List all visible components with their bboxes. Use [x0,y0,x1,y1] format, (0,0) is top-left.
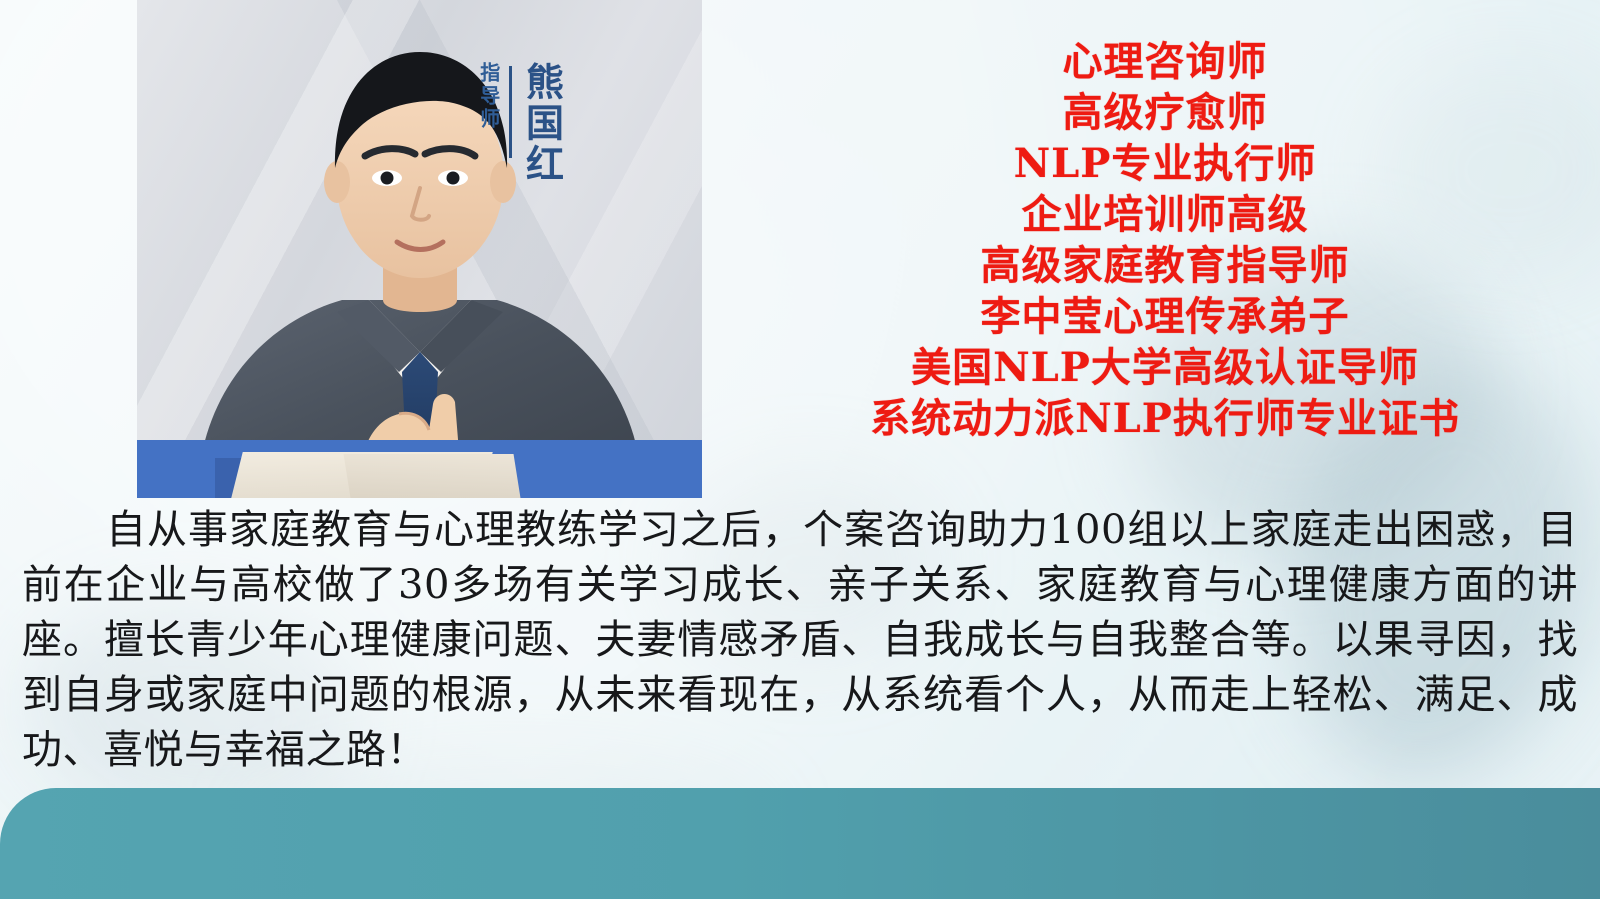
credential-line: 高级疗愈师 [815,87,1515,138]
desk-band [137,440,702,498]
paper-sheet-second [344,454,521,498]
caption-person-name: 熊国红 [522,62,561,185]
credential-line: 高级家庭教育指导师 [815,240,1515,291]
biography-paragraph: 自从事家庭教育与心理教练学习之后，个案咨询助力100组以上家庭走出困惑，目前在企… [22,503,1578,778]
credential-line: 李中莹心理传承弟子 [815,291,1515,342]
caption-divider [509,66,512,158]
bottom-accent-band [0,788,1600,899]
caption-role-label: 指导师 [478,62,499,131]
credential-line: 系统动力派NLP执行师专业证书 [815,393,1515,444]
credential-line: NLP专业执行师 [815,138,1515,189]
credential-line: 心理咨询师 [815,36,1515,87]
credentials-list: 心理咨询师 高级疗愈师 NLP专业执行师 企业培训师高级 高级家庭教育指导师 李… [815,36,1515,444]
instructor-photo: 指导师 熊国红 [137,0,702,498]
credential-line: 企业培训师高级 [815,189,1515,240]
biography-section: 自从事家庭教育与心理教练学习之后，个案咨询助力100组以上家庭走出困惑，目前在企… [22,503,1578,778]
photo-caption: 指导师 熊国红 [478,62,680,185]
credential-line: 美国NLP大学高级认证导师 [815,342,1515,393]
